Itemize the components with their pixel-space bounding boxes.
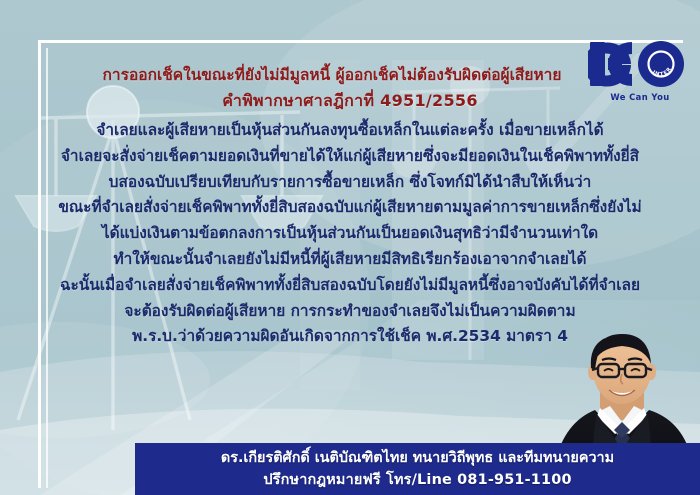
title-line-1: การออกเช็คในขณะที่ยังไม่มีมูลหนี้ ผู้ออก… xyxy=(0,62,700,88)
contact-footer-bar: ดร.เกียรติศักดิ์ เนติบัณฑิตไทย ทนายวิถีพ… xyxy=(135,443,700,495)
body-line-5: ได้แบ่งเงินตามข้อตกลงการเป็นหุ้นส่วนกันเ… xyxy=(0,221,700,247)
body-line-2: จำเลยจะสั่งจ่ายเช็คตามยอดเงินที่ขายได้ให… xyxy=(0,144,700,170)
banner-title: การออกเช็คในขณะที่ยังไม่มีมูลหนี้ ผู้ออก… xyxy=(0,62,700,114)
body-line-1: จำเลยและผู้เสียหายเป็นหุ้นส่วนกันลงทุนซื… xyxy=(0,118,700,144)
banner-canvas: INTERLAW We Can You xyxy=(0,0,700,495)
body-line-6: ทำให้ขณะนั้นจำเลยยังไม่มีหนี้ที่ผู้เสียห… xyxy=(0,247,700,273)
banner-body: จำเลยและผู้เสียหายเป็นหุ้นส่วนกันลงทุนซื… xyxy=(0,118,700,350)
body-line-7: ฉะนั้นเมื่อจำเลยสั่งจ่ายเช็คพิพาททั้งยี่… xyxy=(0,273,700,299)
body-line-9: พ.ร.บ.ว่าด้วยความผิดอันเกิดจากการใช้เช็ค… xyxy=(0,324,700,350)
body-line-3: บสองฉบับเปรียบเทียบกับรายการซื้อขายเหล็ก… xyxy=(0,170,700,196)
body-line-8: จะต้องรับผิดต่อผู้เสียหาย การกระทำของจำเ… xyxy=(0,299,700,325)
banner-content: การออกเช็คในขณะที่ยังไม่มีมูลหนี้ ผู้ออก… xyxy=(0,0,700,495)
body-line-4: ขณะที่จำเลยสั่งจ่ายเช็คพิพาททั้งยี่สิบสอ… xyxy=(0,195,700,221)
footer-line-name: ดร.เกียรติศักดิ์ เนติบัณฑิตไทย ทนายวิถีพ… xyxy=(135,447,700,469)
title-line-2: คำพิพากษาศาลฎีกาที่ 4951/2556 xyxy=(0,88,700,114)
footer-line-phone: ปรึกษากฎหมายฟรี โทร/Line 081-951-1100 xyxy=(135,469,700,491)
